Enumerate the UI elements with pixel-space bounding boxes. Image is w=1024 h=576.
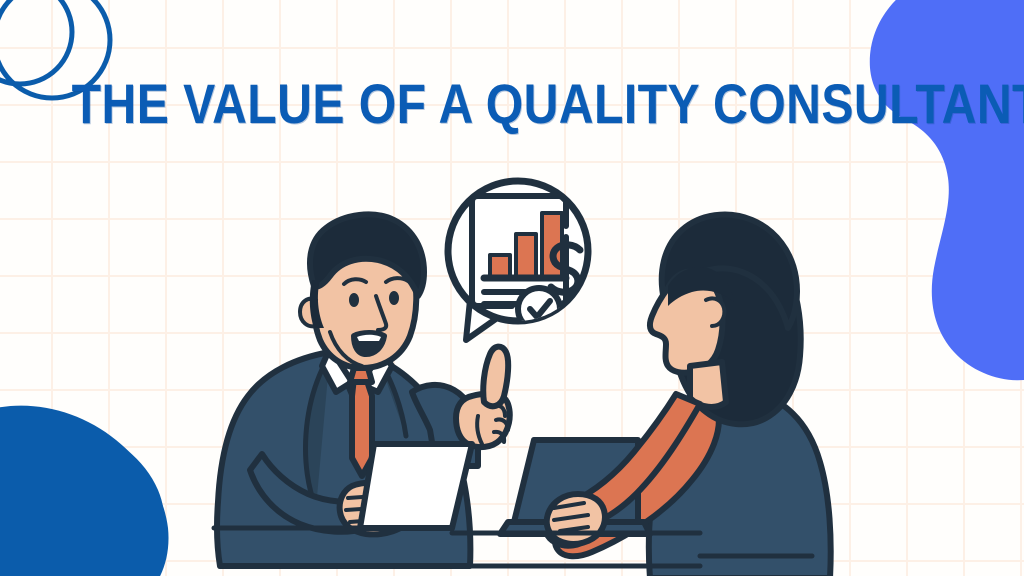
man-eye-right: [389, 291, 399, 305]
man-eye-left: [349, 293, 359, 307]
man-index-finger: [483, 347, 508, 407]
illustration: .ol { stroke:#20303f; stroke-width:6; st…: [0, 0, 1024, 576]
paper-document: [360, 444, 472, 528]
bar-1: [492, 256, 508, 277]
poster-canvas: THE VALUE OF A QUALITY CONSULTANT .ol { …: [0, 0, 1024, 576]
speech-bubble: [448, 181, 588, 340]
bar-2: [518, 235, 534, 277]
